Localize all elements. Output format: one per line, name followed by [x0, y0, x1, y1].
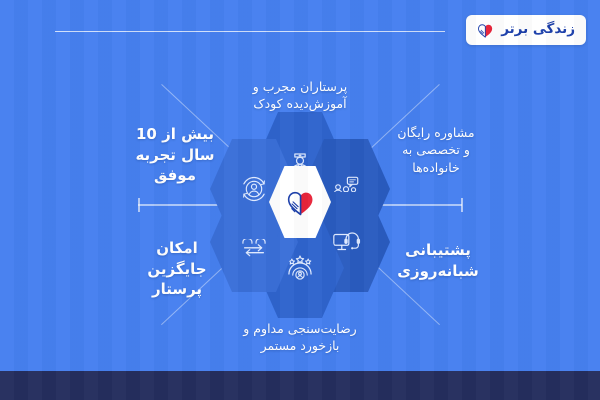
feature-label-top-right-line1: مشاوره رایگان: [372, 124, 500, 141]
footer-bar: [0, 371, 600, 400]
feature-label-bottom-line1: رضایت‌سنجی مداوم و: [205, 320, 395, 337]
brand-logo-badge[interactable]: زندگی برتر: [466, 15, 586, 45]
feature-label-bottom-left: امکان جایگزین پرستار: [118, 238, 236, 300]
feature-label-bottom-right-line1: پشتیبانی: [378, 240, 498, 261]
feature-label-bottom-left-line3: پرستار: [118, 279, 236, 300]
feature-label-top-left: بیش از 10 سال تجربه موفق: [114, 124, 236, 186]
infographic-canvas: زندگی برتر: [0, 0, 600, 400]
feature-label-top-right-line3: خانواده‌ها: [372, 159, 500, 176]
hexagon-cluster: [222, 118, 379, 290]
brand-name: زندگی برتر: [501, 23, 575, 37]
heart-hands-icon: [475, 20, 495, 40]
feature-label-bottom-line2: بازخورد مستمر: [205, 337, 395, 354]
feature-label-bottom-right-line2: شبانه‌روزی: [378, 261, 498, 282]
feature-label-top-left-line3: موفق: [114, 165, 236, 186]
feature-label-top: پرستاران مجرب و آموزش‌دیده کودک: [210, 78, 390, 113]
feature-label-bottom: رضایت‌سنجی مداوم و بازخورد مستمر: [205, 320, 395, 355]
feature-label-top-right-line2: و تخصصی به: [372, 141, 500, 158]
feature-label-top-line1: پرستاران مجرب و: [210, 78, 390, 95]
feature-label-top-left-line2: سال تجربه: [114, 145, 236, 166]
experience-badge-icon: [239, 174, 269, 204]
feature-label-bottom-left-line1: امکان: [118, 238, 236, 259]
feature-label-top-line2: آموزش‌دیده کودک: [210, 95, 390, 112]
header-divider-line: [55, 31, 445, 32]
heart-hands-icon: [283, 185, 317, 219]
feature-label-top-right: مشاوره رایگان و تخصصی به خانواده‌ها: [372, 124, 500, 176]
feature-label-bottom-right: پشتیبانی شبانه‌روزی: [378, 240, 498, 281]
feature-label-top-left-line1: بیش از 10: [114, 124, 236, 145]
feature-label-bottom-left-line2: جایگزین: [118, 259, 236, 280]
axis-cap-right: [461, 198, 463, 212]
